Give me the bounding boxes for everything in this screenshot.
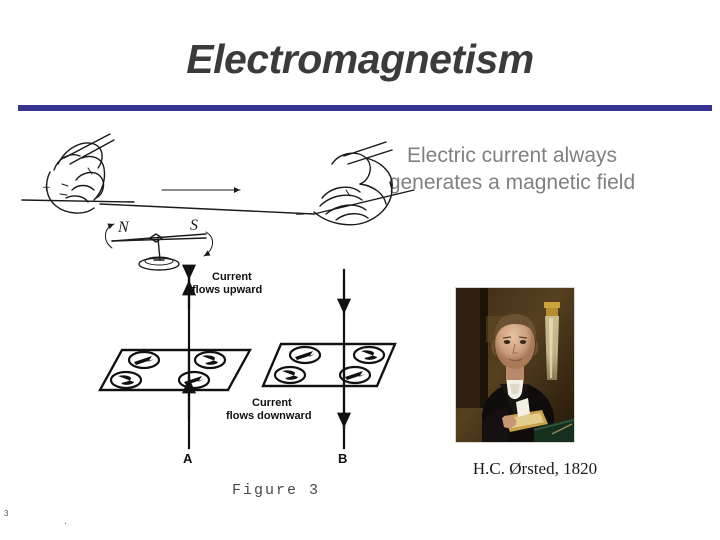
diagram-b-label: B — [338, 451, 347, 466]
diagram-b-current-downward: Current flows downward B — [226, 270, 395, 466]
diagram-a-caption-line-2: flows upward — [192, 284, 262, 296]
south-pole-label: S — [190, 217, 198, 234]
hands-and-wire-drawing: + – N S — [22, 134, 414, 270]
diagram-b-caption-line-2: flows downward — [226, 410, 312, 422]
plus-sign-label: + — [42, 180, 50, 196]
portrait-svg — [456, 288, 574, 442]
diagram-a-label: A — [183, 451, 193, 466]
figure-caption: Figure 3 — [232, 482, 320, 499]
slide: Electromagnetism Electric current always… — [0, 0, 720, 540]
minus-sign-label: – — [295, 206, 304, 222]
portrait-caption: H.C. Ørsted, 1820 — [410, 459, 660, 479]
title-divider-rule — [18, 105, 712, 111]
electromagnetism-figure: .ink { fill:none; stroke:#1a1a1a; stroke… — [14, 128, 424, 513]
page-title: Electromagnetism — [0, 36, 720, 83]
footer-dot-marker: . — [64, 518, 67, 524]
compass-group-a — [111, 352, 225, 388]
figure-drawing-svg: .ink { fill:none; stroke:#1a1a1a; stroke… — [14, 128, 424, 513]
orsted-portrait-image — [455, 287, 575, 443]
diagram-a-caption-line-1: Current — [212, 271, 252, 283]
diagram-a-current-upward: Current flows upward A — [100, 270, 262, 466]
compass-group-b — [275, 347, 384, 383]
slide-number: 3 — [4, 509, 8, 518]
north-pole-label: N — [117, 219, 130, 236]
diagram-b-caption-line-1: Current — [252, 397, 292, 409]
